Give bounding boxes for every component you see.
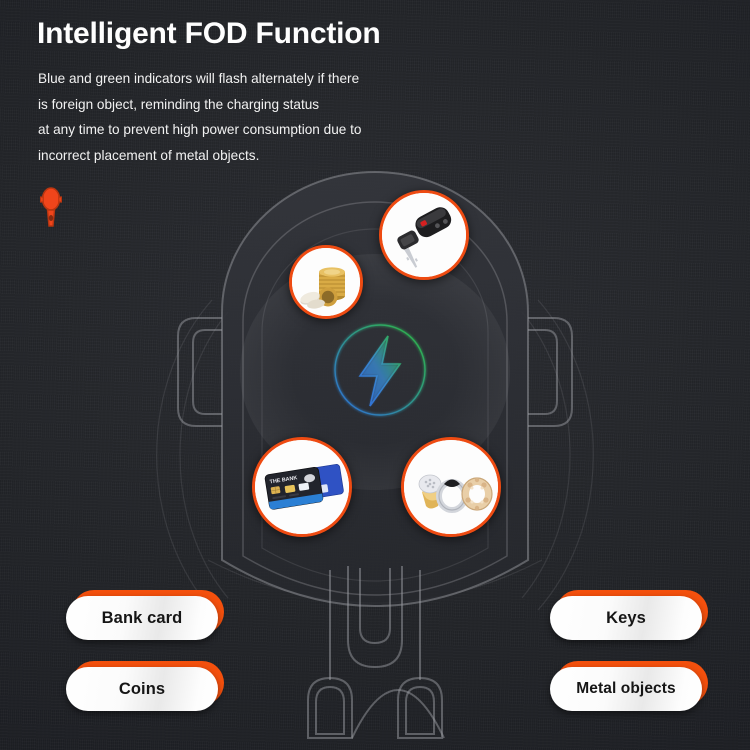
pill-label: Metal objects — [576, 680, 676, 698]
label-pill-coins[interactable]: Coins — [66, 661, 224, 711]
left-clamp-arm — [178, 318, 222, 426]
description-line-3: at any time to prevent high power consum… — [38, 117, 458, 143]
pill-label: Coins — [119, 680, 165, 699]
description-line-4: incorrect placement of metal objects. — [38, 143, 458, 169]
pill-face: Bank card — [66, 596, 218, 640]
callout-keys[interactable] — [379, 190, 469, 280]
label-pill-keys[interactable]: Keys — [550, 590, 708, 640]
pill-face: Keys — [550, 596, 702, 640]
orange-badge-emblem-icon — [38, 185, 64, 229]
wireless-charging-coil-icon — [330, 320, 430, 420]
label-pill-bank-card[interactable]: Bank card — [66, 590, 224, 640]
pill-face: Coins — [66, 667, 218, 711]
pill-label: Bank card — [102, 609, 183, 628]
coin-stack-icon — [292, 248, 360, 316]
description-paragraph: Blue and green indicators will flash alt… — [38, 66, 458, 168]
callout-metal-objects[interactable] — [401, 437, 501, 537]
description-line-2: is foreign object, reminding the chargin… — [38, 92, 458, 118]
car-key-fob-icon — [382, 193, 466, 277]
product-feature-slide: Intelligent FOD Function Blue and green … — [0, 0, 750, 750]
callout-coins[interactable] — [289, 245, 363, 319]
bank-card-icon: THE BANK — [255, 440, 349, 534]
pill-face: Metal objects — [550, 667, 702, 711]
base-feet — [308, 678, 444, 738]
label-pill-metal-objects[interactable]: Metal objects — [550, 661, 708, 711]
pill-label: Keys — [606, 609, 646, 628]
description-line-1: Blue and green indicators will flash alt… — [38, 66, 458, 92]
right-clamp-arm — [528, 318, 572, 426]
page-title: Intelligent FOD Function — [37, 17, 381, 50]
neck-stem — [330, 566, 420, 680]
metal-rings-icon — [404, 440, 498, 534]
callout-bank-card[interactable]: THE BANK — [252, 437, 352, 537]
